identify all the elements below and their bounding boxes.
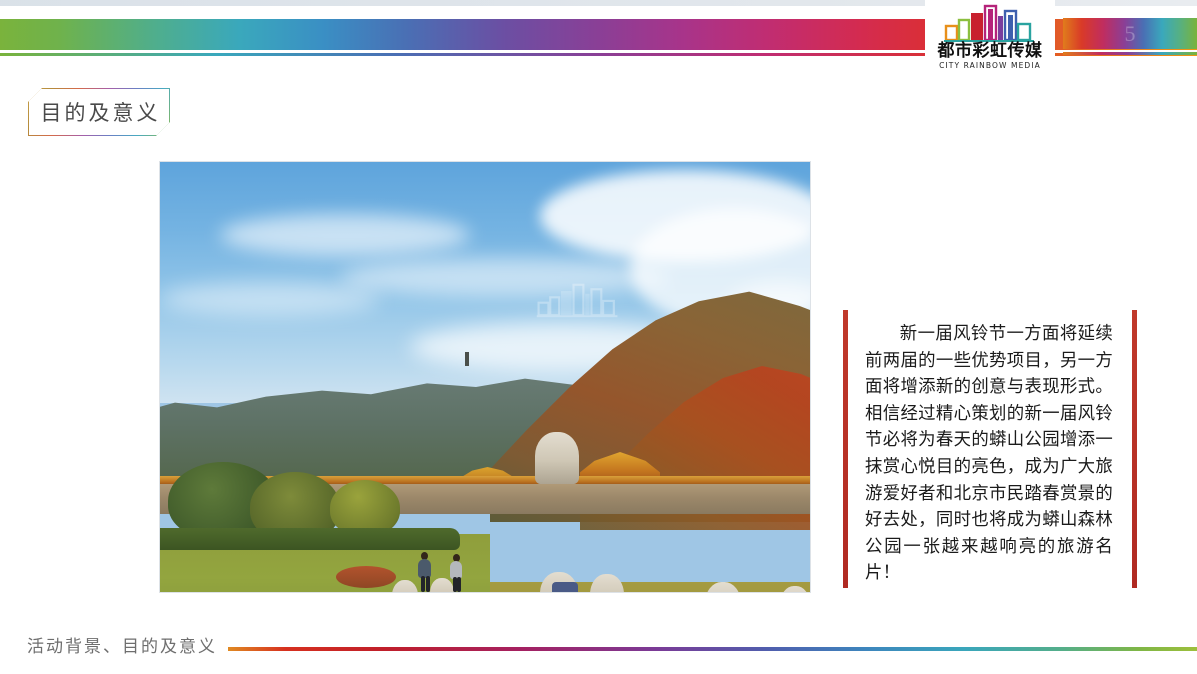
body-text-panel: 新一届风铃节一方面将延续前两届的一些优势项目，另一方面将增添新的创意与表现形式。… xyxy=(843,310,1137,590)
brand-name-en: CITY RAINBOW MEDIA xyxy=(939,61,1041,71)
footer-label: 活动背景、目的及意义 xyxy=(27,632,217,657)
slide-footer: 活动背景、目的及意义 xyxy=(0,620,1197,674)
accent-rule-right xyxy=(1132,310,1137,588)
photo-hedge xyxy=(160,528,460,550)
park-photo xyxy=(160,162,810,592)
brand-name-cn: 都市彩虹传媒 xyxy=(938,42,1043,61)
photo-cloud xyxy=(160,282,380,316)
footer-rainbow-rule xyxy=(228,647,1197,651)
photo-cloud xyxy=(220,214,470,256)
city-skyline-watermark xyxy=(535,274,621,326)
city-skyline-icon xyxy=(942,4,1038,42)
page-number: 5 xyxy=(1063,18,1197,49)
section-title-text: 目的及意义 xyxy=(28,88,170,136)
photo-lawn-right xyxy=(490,582,810,592)
accent-rule-left xyxy=(843,310,848,588)
photo-statue xyxy=(535,432,579,484)
page-number-chip: 5 xyxy=(1063,18,1197,57)
brand-logo: 都市彩虹传媒 CITY RAINBOW MEDIA xyxy=(930,4,1050,78)
section-title-box: 目的及意义 xyxy=(28,88,170,136)
body-paragraph: 新一届风铃节一方面将延续前两届的一些优势项目，另一方面将增添新的创意与表现形式。… xyxy=(865,320,1113,586)
photo-shrub xyxy=(336,566,396,588)
photo-statue xyxy=(590,574,624,592)
photo-hilltop-tower xyxy=(465,352,469,366)
page-chip-hairline xyxy=(1063,52,1197,55)
